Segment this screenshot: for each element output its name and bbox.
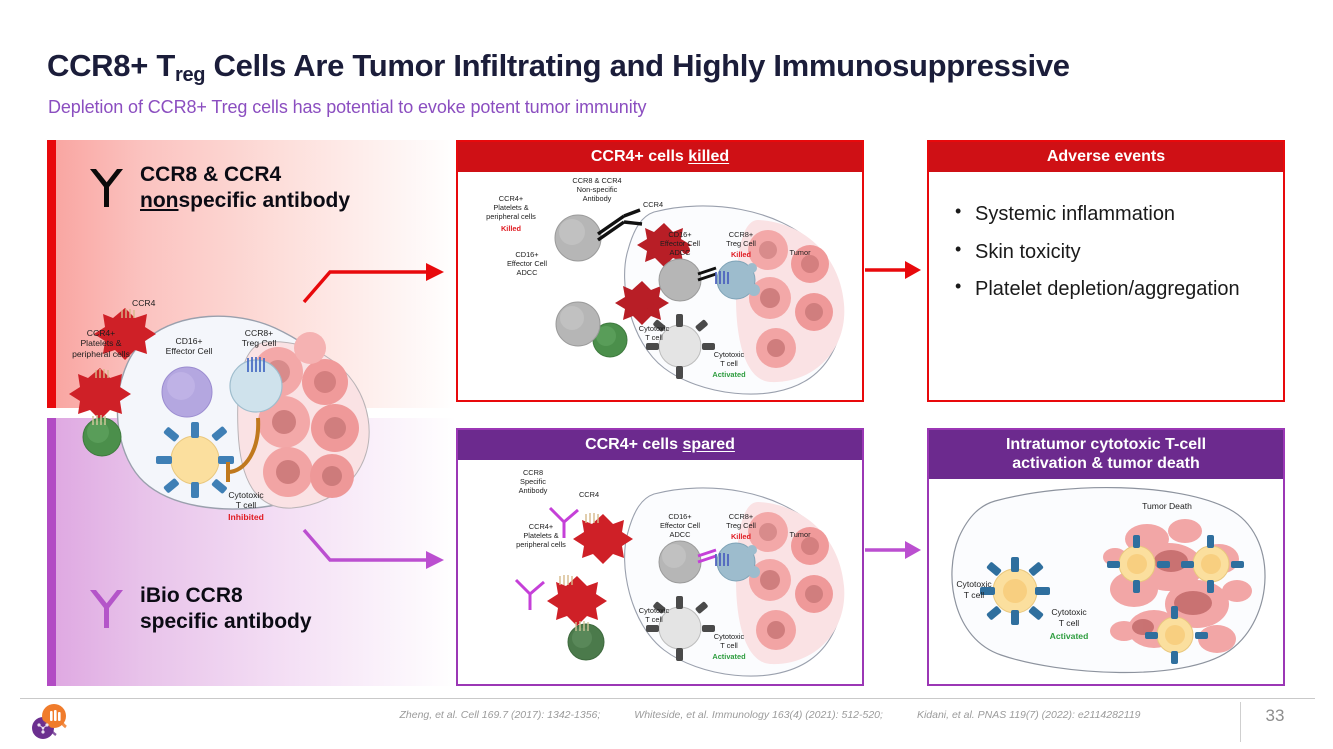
card-body-ccr4-killed: CCR4+ Platelets & peripheral cells Kille…: [458, 172, 862, 397]
antibody-label-line2: specific antibody: [140, 609, 312, 635]
title-subscript: reg: [175, 64, 205, 86]
label-platelets: CCR4+ Platelets & peripheral cells: [500, 522, 582, 549]
illus-label-treg: CCR8+ Treg Cell: [226, 328, 292, 349]
list-item: Systemic inflammation: [953, 200, 1269, 228]
reference-item: Whiteside, et al. Immunology 163(4) (202…: [634, 709, 883, 721]
label-ccr4: CCR4: [636, 200, 670, 209]
illus-label-cd16: CD16+ Effector Cell: [152, 336, 226, 357]
reference-item: Zheng, et al. Cell 169.7 (2017): 1342-13…: [399, 709, 600, 721]
label-cd16-inner: CD16+ Effector Cell ADCC: [644, 230, 716, 257]
card-header-adverse-events: Adverse events: [929, 142, 1283, 172]
label-tumor-death: Tumor Death: [1125, 501, 1209, 511]
antibody-row-nonspecific: CCR8 & CCR4 nonspecific antibody: [86, 162, 350, 215]
label-cd16: CD16+ Effector Cell ADCC: [644, 512, 716, 539]
label-treg: CCR8+ Treg Cell: [710, 230, 772, 248]
card-intratumor-activation: Intratumor cytotoxic T-cell activation &…: [927, 428, 1285, 686]
antibody-label-nonspecific: CCR8 & CCR4 nonspecific antibody: [140, 162, 350, 215]
footer-divider: [20, 698, 1315, 699]
label-cytotoxic-right: Cytotoxic T cell: [702, 632, 756, 650]
label-cytotoxic-right: Cytotoxic T cell: [702, 350, 756, 368]
antibody-label-line1: iBio CCR8: [140, 583, 312, 609]
illus-label-cytotoxic: Cytotoxic T cell: [215, 490, 277, 511]
label-cd16-outer: CD16+ Effector Cell ADCC: [490, 250, 564, 277]
label-activated: Activated: [702, 652, 756, 661]
card-body-adverse-events: Systemic inflammation Skin toxicity Plat…: [929, 172, 1283, 397]
label-cytotoxic-right: Cytotoxic T cell: [1041, 607, 1097, 628]
adverse-events-list: Systemic inflammation Skin toxicity Plat…: [929, 172, 1283, 303]
label-ccr8-antibody: CCR8 Specific Antibody: [502, 468, 564, 495]
antibody-icon: [86, 587, 126, 631]
ibio-logo-icon: [30, 703, 70, 741]
label-cytotoxic-left: Cytotoxic T cell: [947, 579, 1001, 600]
page-subtitle: Depletion of CCR8+ Treg cells has potent…: [48, 97, 646, 118]
antibody-label-line2: specific antibody: [178, 189, 350, 212]
arrow-purple-right: [863, 535, 923, 565]
header-underlined: spared: [682, 436, 734, 453]
label-killed-platelets: Killed: [472, 224, 550, 233]
label-platelets: CCR4+ Platelets & peripheral cells: [472, 194, 550, 221]
page-number: 33: [1245, 706, 1305, 726]
card-header-ccr4-spared: CCR4+ cells spared: [458, 430, 862, 460]
title-part-main: CCR8+ T: [47, 48, 175, 83]
arrow-red-left: [300, 250, 450, 310]
footer-references: Zheng, et al. Cell 169.7 (2017): 1342-13…: [320, 709, 1220, 721]
label-tumor: Tumor: [778, 248, 822, 257]
antibody-icon: [86, 166, 126, 210]
page-title: CCR8+ Treg Cells Are Tumor Infiltrating …: [47, 48, 1070, 87]
illus-label-inhibited: Inhibited: [215, 512, 277, 522]
antibody-label-underlined: non: [140, 189, 178, 212]
arrow-red-right: [863, 255, 923, 285]
reference-item: Kidani, et al. PNAS 119(7) (2022): e2114…: [917, 709, 1141, 721]
card-ccr4-spared: CCR4+ cells spared: [456, 428, 864, 686]
slide-canvas: CCR8+ Treg Cells Are Tumor Infiltrating …: [0, 0, 1333, 749]
left-cell-illustration: CCR4 CCR4+ Platelets & peripheral cells …: [60, 300, 390, 530]
label-activated: Activated: [702, 370, 756, 379]
card-adverse-events: Adverse events Systemic inflammation Ski…: [927, 140, 1285, 402]
header-underlined: killed: [688, 148, 729, 165]
antibody-row-specific: iBio CCR8 specific antibody: [86, 583, 312, 636]
label-killed-treg: Killed: [710, 250, 772, 259]
header-text: CCR4+ cells: [585, 436, 682, 453]
label-treg: CCR8+ Treg Cell: [710, 512, 772, 530]
header-line2: activation & tumor death: [933, 454, 1279, 473]
list-item: Platelet depletion/aggregation: [953, 275, 1269, 303]
header-line1: Intratumor cytotoxic T-cell: [933, 435, 1279, 454]
list-item: Skin toxicity: [953, 238, 1269, 266]
label-activated: Activated: [1041, 631, 1097, 641]
arrow-purple-left: [300, 520, 450, 580]
illus-label-ccr4: CCR4: [132, 298, 155, 308]
antibody-label-line1: CCR8 & CCR4: [140, 162, 350, 188]
illus-label-platelets: CCR4+ Platelets & peripheral cells: [58, 328, 144, 359]
card-body-ccr4-spared: CCR8 Specific Antibody CCR4 CCR4+ Platel…: [458, 460, 862, 681]
label-cytotoxic-left: Cytotoxic T cell: [628, 324, 680, 342]
title-part-rest: Cells Are Tumor Infiltrating and Highly …: [205, 48, 1070, 83]
label-nonspecific-antibody: CCR8 & CCR4 Non-specific Antibody: [554, 176, 640, 203]
label-killed-treg: Killed: [710, 532, 772, 541]
card-header-intratumor-activation: Intratumor cytotoxic T-cell activation &…: [929, 430, 1283, 479]
header-text: CCR4+ cells: [591, 148, 688, 165]
label-cytotoxic-left: Cytotoxic T cell: [628, 606, 680, 624]
antibody-label-specific: iBio CCR8 specific antibody: [140, 583, 312, 636]
card-body-intratumor-activation: Tumor Death Cytotoxic T cell Cytotoxic T…: [929, 479, 1283, 678]
label-tumor: Tumor: [778, 530, 822, 539]
card-header-ccr4-killed: CCR4+ cells killed: [458, 142, 862, 172]
label-ccr4: CCR4: [570, 490, 608, 499]
page-number-divider: [1240, 702, 1241, 742]
card-ccr4-killed: CCR4+ cells killed: [456, 140, 864, 402]
